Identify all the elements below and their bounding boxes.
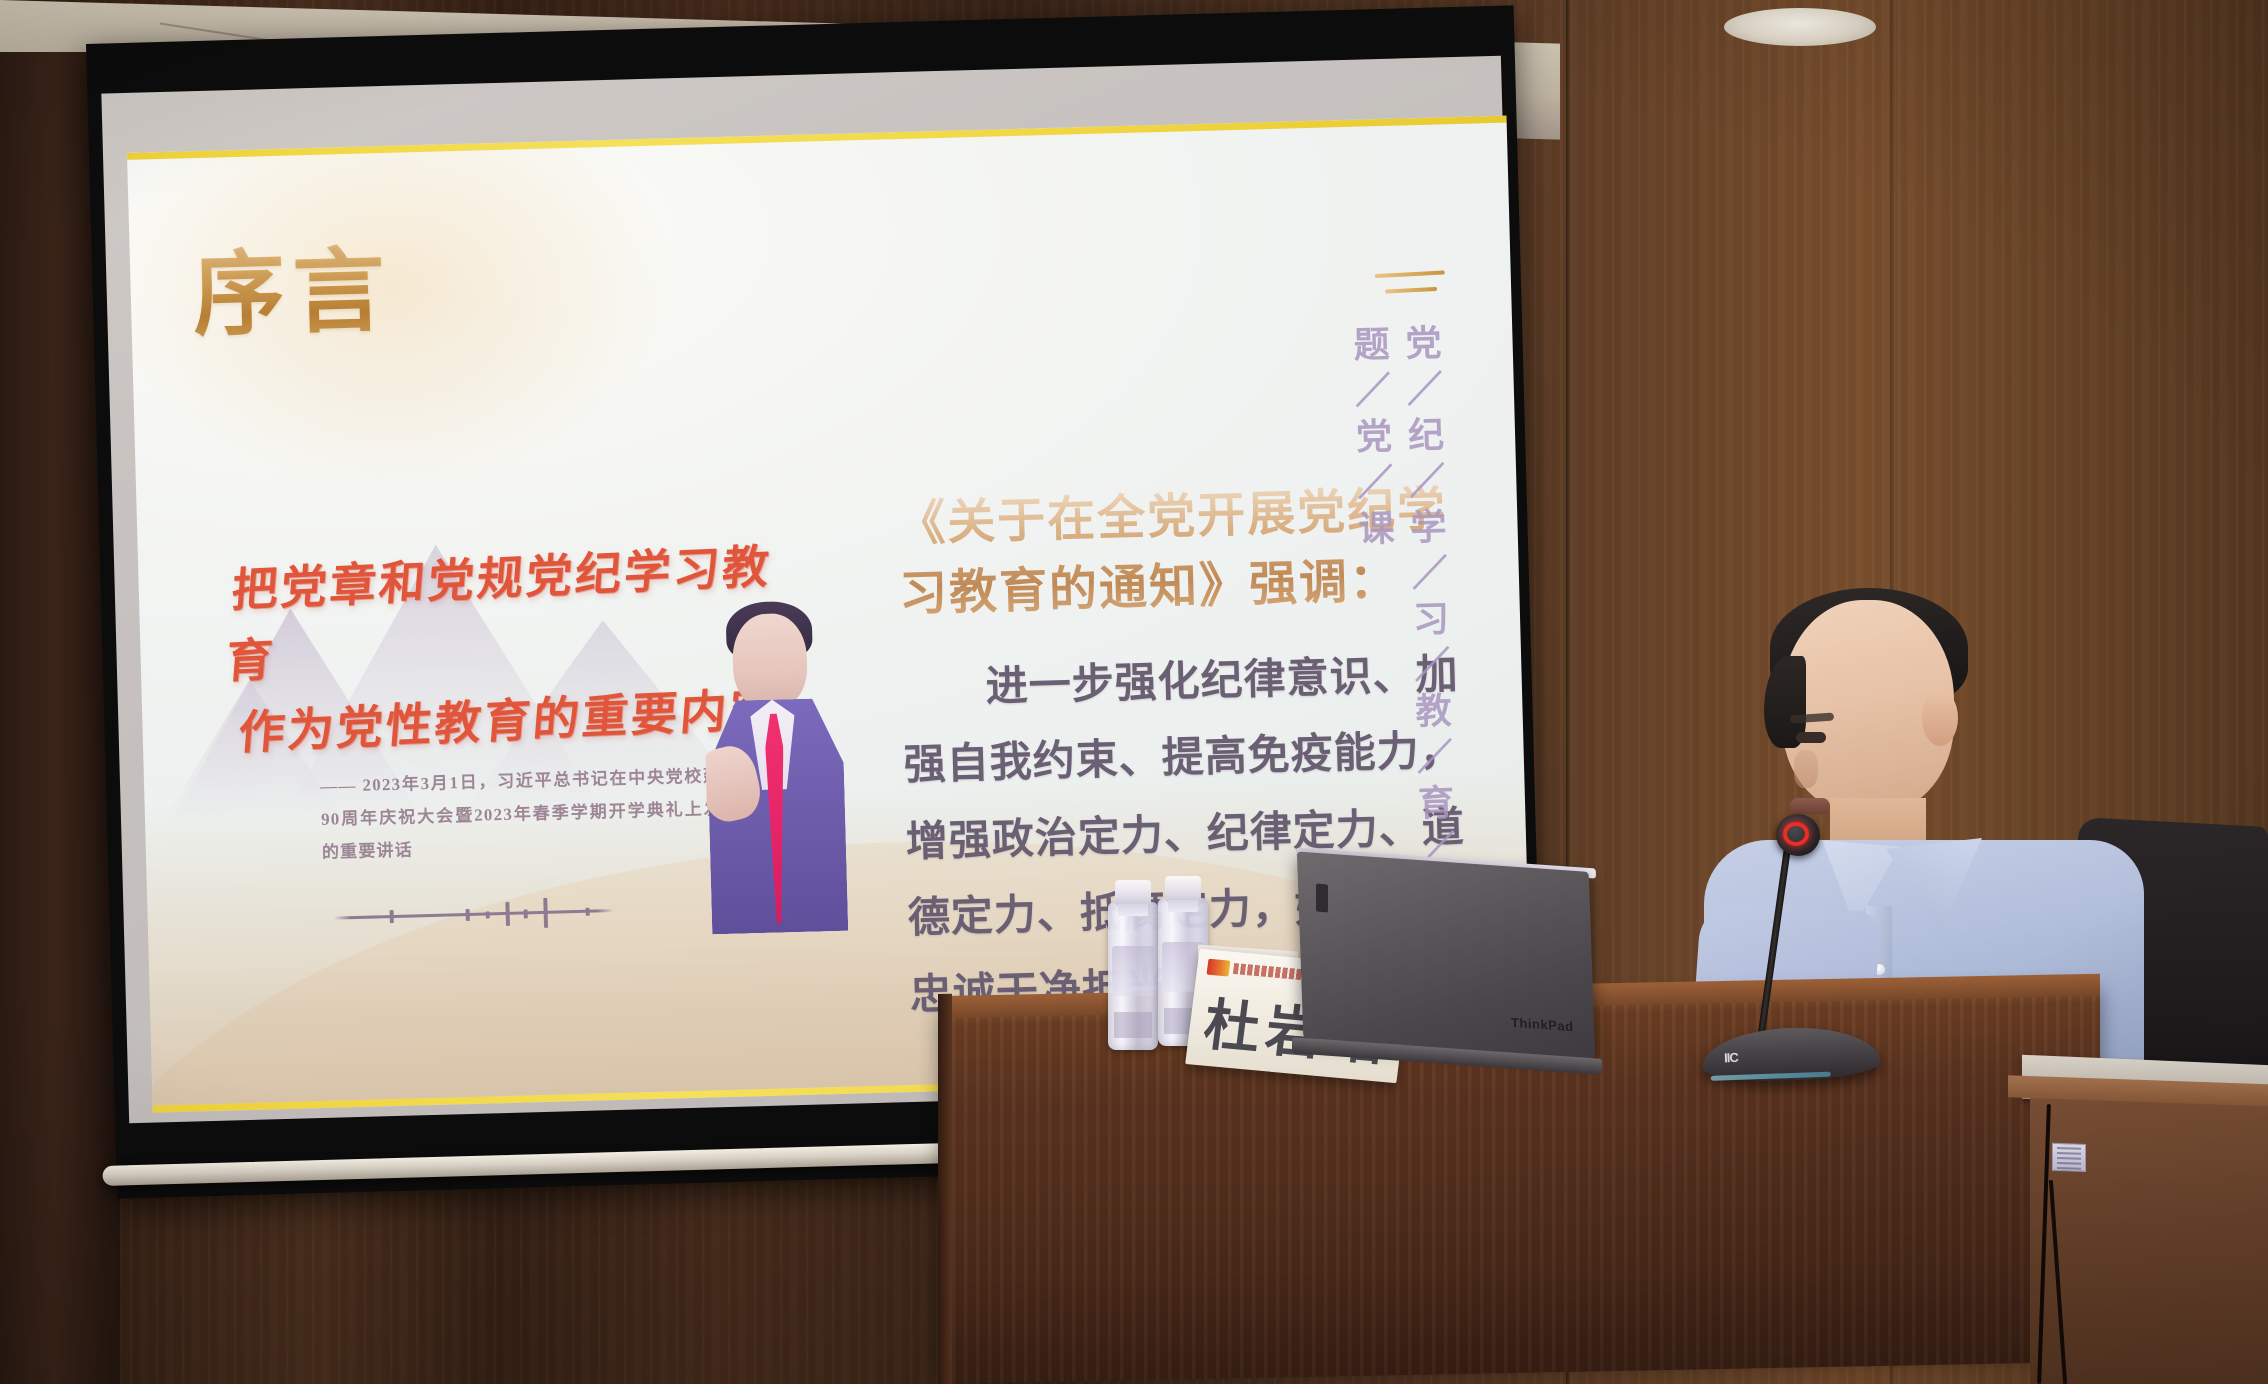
sidebar-gold-rule-2 (1385, 287, 1437, 294)
divider-tick (466, 909, 470, 921)
bottle-cap (1115, 880, 1151, 906)
divider-tick (524, 909, 528, 918)
bottle-label (1112, 946, 1154, 996)
mic-brand-logo: IIC (1724, 1050, 1738, 1065)
divider-tick (390, 910, 394, 923)
equipment-label-sticker (2052, 1143, 2086, 1172)
table-left-edge (938, 994, 952, 1384)
person-eye (1796, 732, 1826, 743)
bottle-neck (1168, 900, 1198, 912)
person-ear (1922, 690, 1958, 746)
sidebar-gold-rule-1 (1375, 270, 1445, 278)
portrait-head (732, 613, 809, 711)
bottle-label-lower (1114, 1012, 1152, 1038)
conference-room-scene: 序言 把党章和党规党纪学习教育 作为党性教育的重要内容 —— 2023年3月1日… (0, 0, 2268, 1384)
person-mouth (1790, 798, 1830, 814)
divider-tick (543, 898, 548, 928)
water-bottle[interactable] (1108, 902, 1158, 1050)
bottle-neck (1118, 904, 1148, 916)
slide-title: 序言 (191, 216, 395, 354)
laptop[interactable]: ThinkPad (1300, 862, 1592, 1058)
person-nose (1794, 750, 1818, 788)
divider-bar (334, 909, 614, 920)
slide-top-gold-rule (127, 116, 1507, 160)
bottle-cap (1165, 876, 1201, 902)
divider-tick (586, 908, 590, 916)
org-logo-icon (1207, 959, 1231, 977)
ceiling-downlight-2-icon (1724, 8, 1876, 46)
org-logo-text-decor (1233, 963, 1304, 980)
leader-portrait-photo (701, 586, 850, 935)
divider-tick (505, 902, 510, 926)
quote-attribution: —— 2023年3月1日，习近平总书记在中央党校建校90周年庆祝大会暨2023年… (320, 759, 743, 870)
divider-tick (486, 911, 490, 918)
microphone-active-ring-icon (1783, 822, 1809, 846)
lenovo-logo-icon (1316, 883, 1328, 912)
side-cabinet (2030, 1094, 2268, 1384)
